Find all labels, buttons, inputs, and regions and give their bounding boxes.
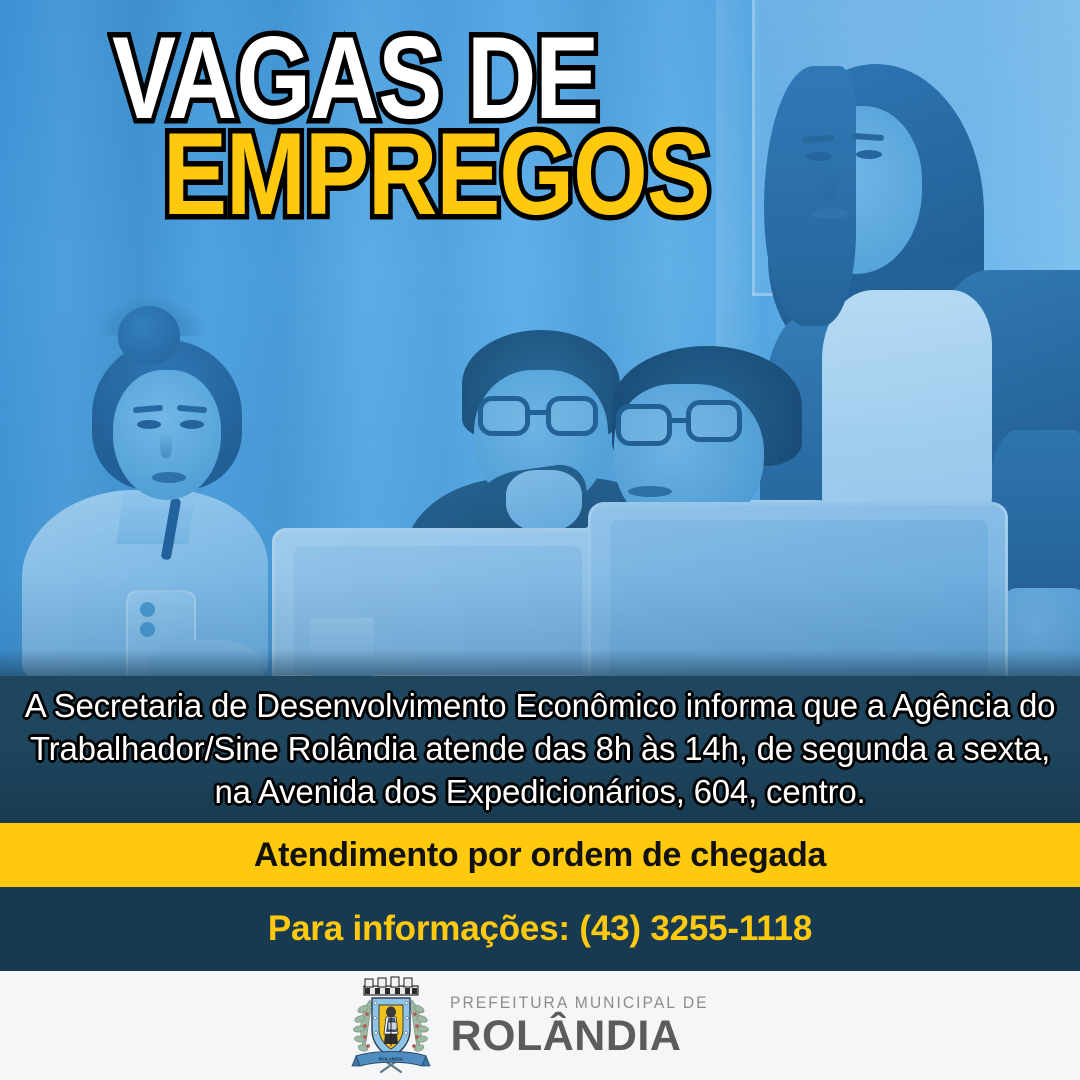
job-vacancy-poster: VAGAS DE EMPREGOS A Secretaria de Desenv… [0, 0, 1080, 1080]
logo-text-block: PREFEITURA MUNICIPAL DE ROLÂNDIA [450, 994, 731, 1058]
title-line-2: EMPREGOS [163, 120, 710, 230]
highlight-band: Atendimento por ordem de chegada [0, 823, 1080, 887]
logo-title: ROLÂNDIA [450, 1015, 731, 1058]
photo-bottom-shade [0, 650, 1080, 676]
contact-text: Para informações: (43) 3255-1118 [268, 909, 812, 949]
info-text: A Secretaria de Desenvolvimento Econômic… [10, 685, 1070, 814]
logo-subtitle: PREFEITURA MUNICIPAL DE [450, 994, 709, 1011]
contact-band: Para informações: (43) 3255-1118 [0, 887, 1080, 971]
prefeitura-logo: ROLANDIA PREFEITURA MUNICIPAL DE ROLÂNDI… [348, 976, 731, 1076]
footer: ROLANDIA PREFEITURA MUNICIPAL DE ROLÂNDI… [0, 971, 1080, 1080]
highlight-text: Atendimento por ordem de chegada [254, 836, 826, 875]
info-band: A Secretaria de Desenvolvimento Econômic… [0, 676, 1080, 823]
svg-text:ROLANDIA: ROLANDIA [379, 1056, 404, 1061]
coat-of-arms-icon: ROLANDIA [348, 976, 434, 1076]
